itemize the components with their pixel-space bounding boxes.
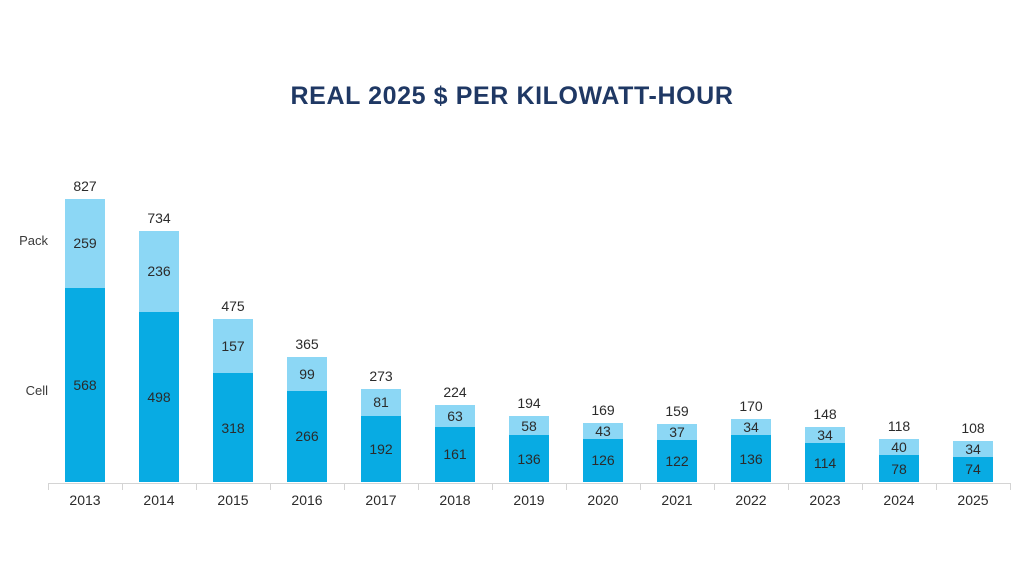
bar-group[interactable]: 19458136 — [509, 416, 549, 482]
x-axis-label: 2023 — [788, 492, 862, 508]
bar-group[interactable]: 36599266 — [287, 357, 327, 482]
x-axis-label: 2024 — [862, 492, 936, 508]
bar-total-label: 159 — [665, 403, 688, 419]
x-axis-tick — [862, 483, 863, 490]
plot-area: Pack Cell 827259568734236498475157318365… — [0, 0, 1024, 576]
x-axis-tick — [788, 483, 789, 490]
bar-segment-pack[interactable]: 34 — [953, 441, 993, 457]
bar-total-label: 734 — [147, 210, 170, 226]
bar-segment-cell[interactable]: 568 — [65, 288, 105, 482]
bar-group[interactable]: 16943126 — [583, 423, 623, 482]
bar-segment-pack[interactable]: 259 — [65, 199, 105, 288]
x-axis-label: 2020 — [566, 492, 640, 508]
bar-segment-value-pack: 63 — [447, 409, 463, 423]
bar-group[interactable]: 734236498 — [139, 231, 179, 482]
bar-total-label: 170 — [739, 398, 762, 414]
bar-group[interactable]: 475157318 — [213, 319, 253, 482]
bar-segment-pack[interactable]: 40 — [879, 439, 919, 455]
bar-segment-cell[interactable]: 126 — [583, 439, 623, 482]
bar-segment-cell[interactable]: 122 — [657, 440, 697, 482]
bar-segment-cell[interactable]: 266 — [287, 391, 327, 482]
x-axis-label: 2022 — [714, 492, 788, 508]
x-axis-label: 2018 — [418, 492, 492, 508]
bar-segment-value-cell: 114 — [814, 456, 836, 470]
x-axis-label: 2014 — [122, 492, 196, 508]
bar-segment-value-pack: 236 — [147, 264, 170, 278]
x-axis-tick — [640, 483, 641, 490]
bar-segment-value-cell: 122 — [665, 454, 688, 468]
bar-segment-value-cell: 78 — [891, 462, 907, 476]
bar-segment-value-cell: 568 — [73, 378, 96, 392]
bar-segment-pack[interactable]: 58 — [509, 416, 549, 436]
bar-total-label: 365 — [295, 336, 318, 352]
x-axis-label: 2015 — [196, 492, 270, 508]
bar-total-label: 827 — [73, 178, 96, 194]
bar-segment-value-pack: 58 — [521, 419, 537, 433]
bar-segment-pack[interactable]: 157 — [213, 319, 253, 373]
x-axis-label: 2013 — [48, 492, 122, 508]
bar-group[interactable]: 1083474 — [953, 441, 993, 482]
bar-segment-cell[interactable]: 498 — [139, 312, 179, 482]
x-axis-tick — [196, 483, 197, 490]
x-axis-label: 2017 — [344, 492, 418, 508]
x-axis-tick — [566, 483, 567, 490]
x-axis-line — [48, 483, 1010, 484]
bar-total-label: 108 — [961, 420, 984, 436]
bar-segment-value-pack: 43 — [595, 424, 611, 438]
bar-total-label: 148 — [813, 406, 836, 422]
bar-segment-cell[interactable]: 78 — [879, 455, 919, 482]
bar-segment-pack[interactable]: 236 — [139, 231, 179, 312]
bar-segment-value-pack: 34 — [743, 420, 759, 434]
bar-segment-pack[interactable]: 34 — [731, 419, 771, 435]
bar-segment-value-pack: 259 — [73, 236, 96, 250]
bar-segment-pack[interactable]: 81 — [361, 389, 401, 417]
bar-segment-cell[interactable]: 318 — [213, 373, 253, 482]
bar-segment-value-pack: 34 — [965, 442, 981, 456]
x-axis-tick — [714, 483, 715, 490]
x-axis-label: 2025 — [936, 492, 1010, 508]
x-axis-tick — [344, 483, 345, 490]
bar-segment-value-cell: 498 — [147, 390, 170, 404]
bar-segment-value-cell: 136 — [517, 452, 540, 466]
bar-group[interactable]: 22463161 — [435, 405, 475, 482]
bar-total-label: 475 — [221, 298, 244, 314]
x-axis-label: 2016 — [270, 492, 344, 508]
bar-segment-value-cell: 161 — [443, 447, 466, 461]
chart-container: REAL 2025 $ PER KILOWATT-HOUR Pack Cell … — [0, 0, 1024, 576]
x-axis-tick — [492, 483, 493, 490]
x-axis-label: 2019 — [492, 492, 566, 508]
bar-segment-pack[interactable]: 63 — [435, 405, 475, 427]
bar-segment-value-pack: 157 — [221, 339, 244, 353]
x-axis-tick — [1010, 483, 1011, 490]
bar-group[interactable]: 14834114 — [805, 427, 845, 482]
bar-segment-value-pack: 99 — [299, 367, 315, 381]
bar-segment-value-pack: 40 — [891, 440, 907, 454]
bar-group[interactable]: 15937122 — [657, 424, 697, 482]
bar-group[interactable]: 27381192 — [361, 389, 401, 482]
bar-total-label: 224 — [443, 384, 466, 400]
bar-segment-cell[interactable]: 74 — [953, 457, 993, 482]
bar-segment-cell[interactable]: 114 — [805, 443, 845, 482]
x-axis-tick — [936, 483, 937, 490]
x-axis-tick — [122, 483, 123, 490]
bar-segment-value-cell: 126 — [591, 453, 614, 467]
bar-total-label: 194 — [517, 395, 540, 411]
bar-total-label: 118 — [888, 418, 910, 434]
series-label-cell: Cell — [2, 383, 48, 398]
bar-segment-pack[interactable]: 34 — [805, 427, 845, 443]
bar-group[interactable]: 17034136 — [731, 419, 771, 482]
bar-segment-cell[interactable]: 161 — [435, 427, 475, 482]
bar-segment-cell[interactable]: 136 — [731, 435, 771, 482]
bar-segment-value-cell: 74 — [965, 462, 981, 476]
bar-group[interactable]: 1184078 — [879, 439, 919, 482]
bar-segment-value-cell: 136 — [739, 452, 762, 466]
bar-segment-value-pack: 37 — [669, 425, 685, 439]
bar-segment-pack[interactable]: 99 — [287, 357, 327, 391]
bar-segment-value-pack: 34 — [817, 428, 833, 442]
bar-segment-value-cell: 266 — [295, 429, 318, 443]
bar-segment-pack[interactable]: 43 — [583, 423, 623, 439]
bar-group[interactable]: 827259568 — [65, 199, 105, 482]
x-axis-label: 2021 — [640, 492, 714, 508]
x-axis-tick — [418, 483, 419, 490]
bar-segment-cell[interactable]: 136 — [509, 435, 549, 482]
bar-segment-value-cell: 318 — [221, 421, 244, 435]
bar-total-label: 273 — [369, 368, 392, 384]
bar-segment-value-pack: 81 — [373, 395, 389, 409]
series-label-pack: Pack — [2, 233, 48, 248]
bar-segment-value-cell: 192 — [369, 442, 392, 456]
x-axis-tick — [48, 483, 49, 490]
bar-total-label: 169 — [591, 402, 614, 418]
bar-segment-pack[interactable]: 37 — [657, 424, 697, 440]
x-axis-tick — [270, 483, 271, 490]
bar-segment-cell[interactable]: 192 — [361, 416, 401, 482]
